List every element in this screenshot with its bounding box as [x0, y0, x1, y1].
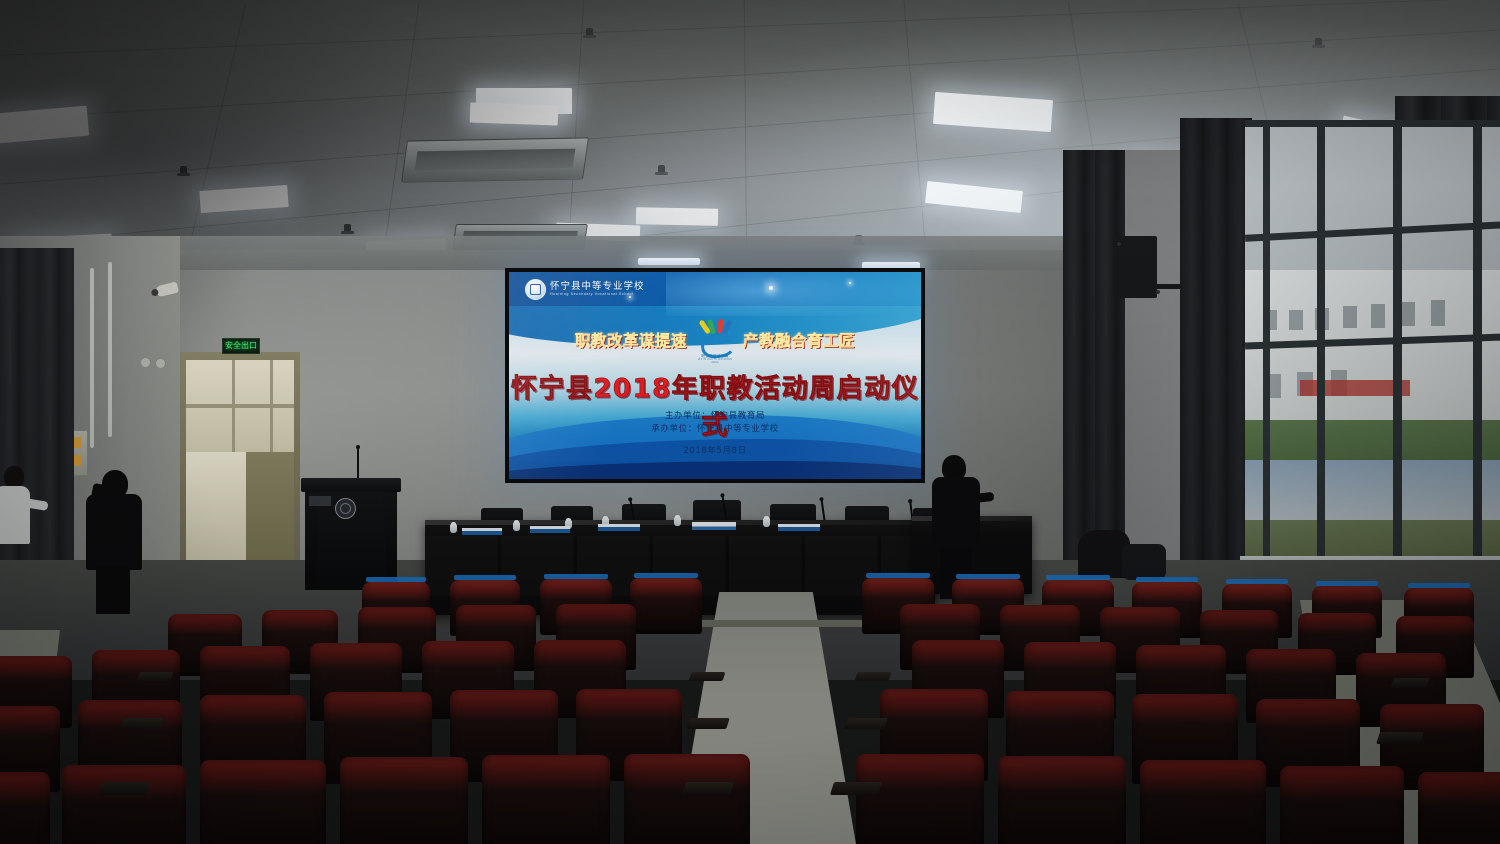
wall-speaker-bracket: [1152, 284, 1182, 289]
seat[interactable]: [0, 772, 50, 844]
auditorium-scene: 安全出口 怀宁县中等专业学校 Huaining Secondary Vocati…: [0, 0, 1500, 844]
right-curtain-near-screen[interactable]: [1063, 150, 1125, 582]
seat-writing-tablet[interactable]: [855, 672, 892, 681]
led-screen-content: 怀宁县中等专业学校 Huaining Secondary Vocational …: [509, 272, 921, 479]
seat-writing-tablet[interactable]: [830, 782, 882, 795]
side-door[interactable]: [180, 352, 300, 587]
seat-trim: [1316, 581, 1378, 586]
screen-date: 2018年5月8日: [509, 444, 921, 456]
seat-trim: [634, 573, 697, 578]
door-transom-glass: [186, 360, 294, 452]
seat[interactable]: [856, 754, 984, 844]
seat-writing-tablet[interactable]: [686, 718, 730, 729]
teacup: [763, 518, 770, 527]
seat[interactable]: [200, 760, 326, 844]
seat[interactable]: [482, 755, 610, 844]
slogan-right: 产教融合育工匠: [743, 329, 855, 351]
seat-trim: [1136, 577, 1198, 582]
wall-conduit: [108, 262, 112, 437]
stage-spotlight: [638, 258, 700, 265]
ceiling-light-panel: [925, 181, 1023, 213]
seat-writing-tablet[interactable]: [120, 718, 164, 729]
window-wall: [1245, 120, 1500, 590]
seat-writing-tablet[interactable]: [1390, 678, 1429, 688]
window-mullion: [1245, 120, 1500, 127]
slogan-row: 职教改革谋提速 职业教育活动周 ZHI YE JIAO YU HUO DONG …: [509, 318, 921, 362]
ceiling-light-panel: [933, 92, 1053, 132]
teacup: [674, 517, 681, 526]
person-head: [4, 466, 24, 488]
sprinkler-icon: [658, 165, 665, 175]
seat-writing-tablet[interactable]: [1376, 732, 1424, 744]
wall-speaker-dot: [140, 357, 151, 368]
seat-trim: [1046, 575, 1109, 580]
seat[interactable]: [1140, 760, 1266, 844]
wall-speaker: [1113, 236, 1157, 298]
window-mullion: [1245, 221, 1500, 242]
slogan-left: 职教改革谋提速: [575, 329, 687, 351]
exterior-fence: [1245, 460, 1500, 522]
co-organizer-line: 承办单位：怀宁县中等专业学校: [509, 423, 921, 436]
seat-writing-tablet[interactable]: [689, 672, 726, 681]
seat-trim: [366, 577, 426, 582]
seat-trim: [544, 574, 607, 579]
seat-writing-tablet[interactable]: [844, 718, 888, 729]
seat[interactable]: [624, 754, 750, 844]
person-torso: [0, 486, 30, 544]
teacup: [450, 524, 457, 533]
seat[interactable]: [630, 578, 702, 634]
seat-trim: [454, 575, 516, 580]
table-name-card: [462, 528, 502, 535]
seat[interactable]: [62, 765, 186, 844]
table-name-card: [778, 524, 820, 531]
wall-conduit: [90, 268, 94, 448]
seat-writing-tablet[interactable]: [137, 672, 174, 681]
exterior-building: [1245, 270, 1500, 440]
window-mullion: [1317, 120, 1325, 590]
table-name-card: [692, 522, 736, 530]
podium-top: [301, 478, 401, 492]
podium-control-plate: [309, 496, 331, 506]
window-mullion: [1393, 120, 1402, 590]
seat-trim: [1226, 579, 1288, 584]
school-name-en: Huaining Secondary Vocational School: [550, 293, 645, 297]
sprinkler-icon: [344, 224, 351, 234]
vocational-education-week-emblem: 职业教育活动周 ZHI YE JIAO YU HUO DONG ZHOU: [695, 319, 735, 361]
seat-writing-tablet[interactable]: [682, 782, 734, 795]
sprinkler-icon: [1315, 38, 1322, 48]
seat[interactable]: [998, 756, 1126, 844]
seat-trim: [866, 573, 929, 578]
seat-writing-tablet[interactable]: [98, 782, 150, 795]
teacup: [513, 522, 520, 531]
audience-seating: [0, 560, 1500, 844]
podium-emblem-icon: [335, 498, 356, 519]
sprinkler-icon: [180, 166, 187, 176]
emblem-label-en: ZHI YE JIAO YU HUO DONG ZHOU: [695, 358, 735, 364]
ceiling-light-panel: [199, 185, 288, 213]
ceiling-light-panel: [470, 102, 559, 125]
table-name-card: [530, 526, 570, 533]
seat[interactable]: [1418, 772, 1500, 844]
left-curtain[interactable]: [0, 248, 74, 600]
organizer-line: 主办单位：怀宁县教育局: [509, 410, 921, 423]
seat-trim: [956, 574, 1019, 579]
star-sparkle-icon: [769, 286, 773, 290]
right-curtain-mid[interactable]: [1180, 118, 1252, 588]
star-sparkle-icon: [849, 282, 851, 284]
person-torso: [86, 494, 142, 570]
seat[interactable]: [1280, 766, 1404, 844]
window-mullion: [1263, 120, 1270, 590]
screen-organizer-block: 主办单位：怀宁县教育局 承办单位：怀宁县中等专业学校: [509, 410, 921, 436]
ceiling-light-panel: [636, 207, 718, 225]
led-display-screen[interactable]: 怀宁县中等专业学校 Huaining Secondary Vocational …: [505, 268, 925, 483]
sprinkler-icon: [586, 28, 593, 38]
window-mullion: [1473, 120, 1482, 590]
seat[interactable]: [340, 757, 468, 844]
exit-sign-label: 安全出口: [225, 342, 257, 350]
school-name-cn: 怀宁县中等专业学校: [550, 282, 645, 292]
ceiling-light-panel: [476, 88, 572, 114]
ceiling-light-panel: [0, 106, 89, 145]
seat-trim: [1408, 583, 1470, 588]
air-conditioner-vent: [401, 137, 589, 182]
exit-sign: 安全出口: [222, 338, 260, 354]
table-name-card: [598, 524, 640, 531]
school-logo: 怀宁县中等专业学校 Huaining Secondary Vocational …: [525, 279, 645, 300]
podium-microphone: [357, 448, 359, 480]
school-seal-icon: [525, 279, 546, 300]
person-torso: [932, 477, 980, 551]
wall-speaker-dot: [155, 358, 166, 369]
